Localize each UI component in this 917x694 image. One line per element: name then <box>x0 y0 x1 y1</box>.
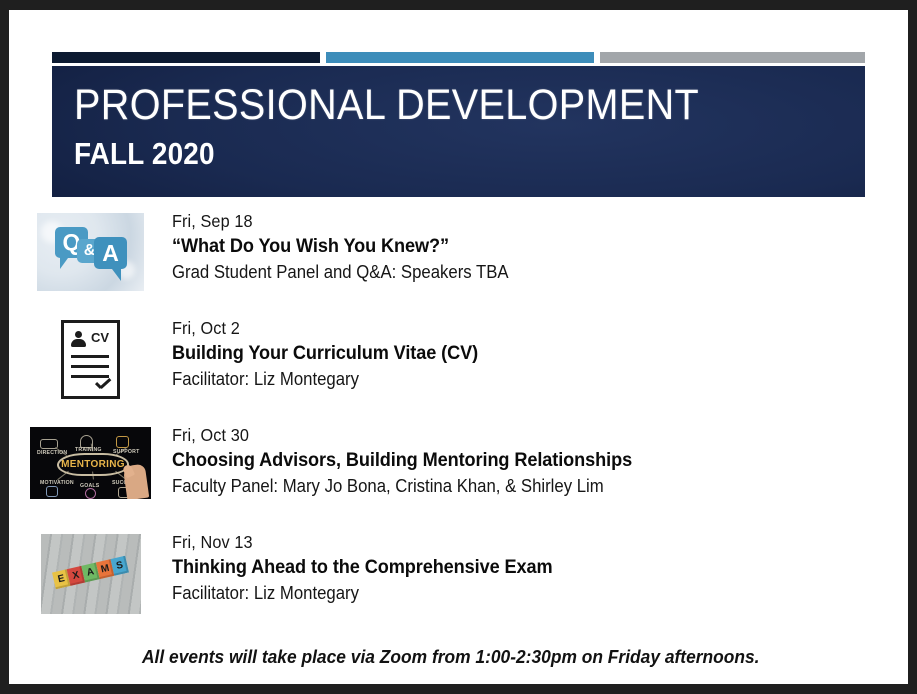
event-date: Fri, Oct 2 <box>172 317 478 340</box>
event-row: E X A M S Fri, Nov 13 Thinking Ahead to … <box>9 527 908 634</box>
event-text-cell: Fri, Oct 30 Choosing Advisors, Building … <box>172 420 667 498</box>
chalk-word: GOALS <box>80 483 99 489</box>
slide-page: PROFESSIONAL DEVELOPMENT FALL 2020 Q & A… <box>9 10 908 684</box>
chalk-icon <box>85 488 96 499</box>
page-subtitle: FALL 2020 <box>74 138 215 169</box>
speech-bubble-a: A <box>94 237 127 269</box>
chalk-word: MOTIVATION <box>40 480 74 486</box>
person-body-shape <box>71 339 86 347</box>
chalk-icon <box>116 436 129 448</box>
event-description: Grad Student Panel and Q&A: Speakers TBA <box>172 260 509 284</box>
event-thumbnail-cell: DIRECTION TRAINING SUPPORT MOTIVATION GO… <box>9 420 172 499</box>
accent-bar-blue <box>326 52 594 63</box>
event-row: Q & A Fri, Sep 18 “What Do You Wish You … <box>9 206 908 313</box>
event-date: Fri, Nov 13 <box>172 531 553 554</box>
document-line <box>71 355 109 358</box>
event-title: Building Your Curriculum Vitae (CV) <box>172 340 478 367</box>
checkmark-icon <box>95 380 110 389</box>
event-thumbnail-cell: Q & A <box>9 206 172 291</box>
event-thumbnail-cell: E X A M S <box>9 527 172 614</box>
event-thumbnail-cell: CV <box>9 313 172 399</box>
slide-frame: PROFESSIONAL DEVELOPMENT FALL 2020 Q & A… <box>0 0 917 694</box>
chalk-icon <box>46 486 58 497</box>
event-title: Thinking Ahead to the Comprehensive Exam <box>172 554 553 581</box>
person-head-shape <box>75 331 82 338</box>
event-text-cell: Fri, Sep 18 “What Do You Wish You Knew?”… <box>172 206 534 284</box>
chalk-word: DIRECTION <box>37 450 67 456</box>
event-title: “What Do You Wish You Knew?” <box>172 233 509 260</box>
event-title: Choosing Advisors, Building Mentoring Re… <box>172 447 632 474</box>
event-description: Faculty Panel: Mary Jo Bona, Cristina Kh… <box>172 474 632 498</box>
document-line <box>71 365 109 368</box>
title-block: PROFESSIONAL DEVELOPMENT FALL 2020 <box>52 66 865 197</box>
cv-label: CV <box>91 331 109 344</box>
event-description: Facilitator: Liz Montegary <box>172 581 553 605</box>
chalk-center-word: MENTORING <box>57 453 129 476</box>
letter-block: S <box>110 556 128 576</box>
mentoring-chalkboard-image: DIRECTION TRAINING SUPPORT MOTIVATION GO… <box>30 427 151 499</box>
event-list: Q & A Fri, Sep 18 “What Do You Wish You … <box>9 206 908 634</box>
event-row: CV Fri, Oct 2 Building Your Curriculum V… <box>9 313 908 420</box>
page-title: PROFESSIONAL DEVELOPMENT <box>74 84 699 127</box>
event-text-cell: Fri, Oct 2 Building Your Curriculum Vita… <box>172 313 501 391</box>
cv-document-icon: CV <box>61 320 120 399</box>
event-text-cell: Fri, Nov 13 Thinking Ahead to the Compre… <box>172 527 581 605</box>
event-description: Facilitator: Liz Montegary <box>172 367 478 391</box>
exams-wooden-blocks-image: E X A M S <box>41 534 141 614</box>
block-group: E X A M S <box>52 556 129 589</box>
accent-bar-gray <box>600 52 865 63</box>
event-date: Fri, Oct 30 <box>172 424 632 447</box>
person-silhouette-icon <box>71 331 86 346</box>
accent-bar-group <box>52 52 865 63</box>
event-date: Fri, Sep 18 <box>172 210 509 233</box>
footer-note: All events will take place via Zoom from… <box>142 646 760 668</box>
event-row: DIRECTION TRAINING SUPPORT MOTIVATION GO… <box>9 420 908 527</box>
document-line <box>71 375 109 378</box>
accent-bar-dark-navy <box>52 52 320 63</box>
qa-speech-bubbles-image: Q & A <box>37 213 144 291</box>
